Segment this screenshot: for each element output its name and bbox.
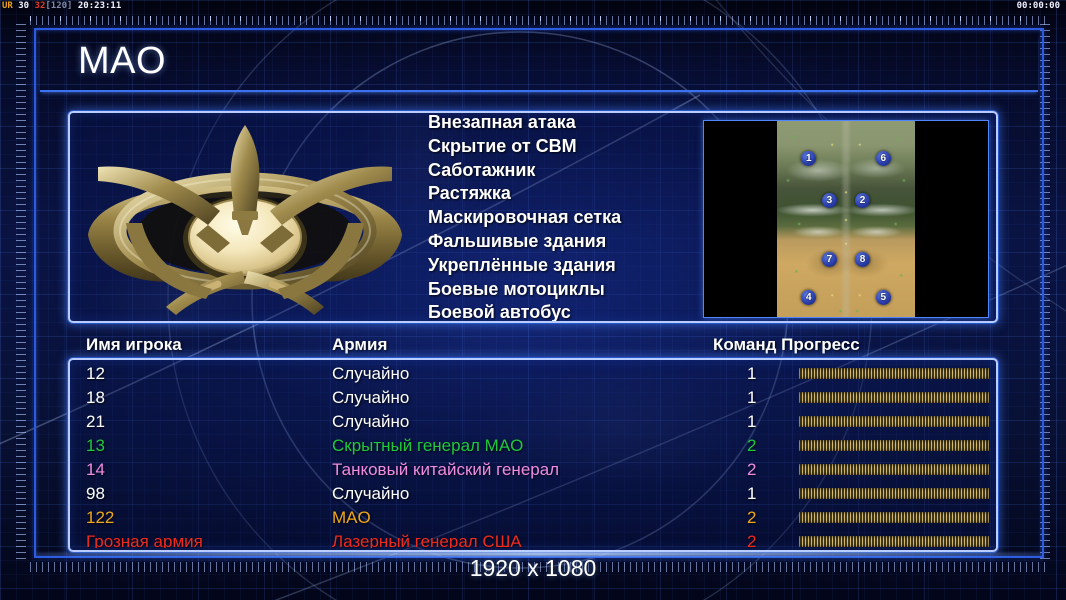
team-progress-bar <box>799 440 989 451</box>
resolution-label: 1920 x 1080 <box>0 555 1066 582</box>
ruler-right <box>1040 24 1050 560</box>
cell-player-name: 21 <box>86 410 105 434</box>
map-start-position[interactable]: 5 <box>876 290 891 305</box>
ability-item: Растяжка <box>428 182 718 206</box>
ability-item: Укреплённые здания <box>428 254 718 278</box>
cell-player-name: 14 <box>86 458 105 482</box>
cell-army: Скрытный генерал MAO <box>332 434 523 458</box>
column-header-army: Армия <box>332 335 387 355</box>
column-header-player-name: Имя игрока <box>86 335 182 355</box>
ruler-top <box>30 16 1048 25</box>
table-row[interactable]: 98Случайно1 <box>72 482 994 506</box>
cell-team-order: 1 <box>747 362 756 386</box>
team-progress-bar <box>799 464 989 475</box>
cell-player-name: Грозная армия <box>86 530 203 548</box>
faction-emblem <box>80 119 410 315</box>
cell-player-name: 12 <box>86 362 105 386</box>
game-menu-screen: UR 30 32[120] 20:23:11 00:00:00 MAO <box>0 0 1066 600</box>
cell-player-name: 98 <box>86 482 105 506</box>
cell-team-order: 2 <box>747 530 756 548</box>
cell-army: Случайно <box>332 386 409 410</box>
table-row[interactable]: 14Танковый китайский генерал2 <box>72 458 994 482</box>
ability-item: Внезапная атака <box>428 111 718 135</box>
cell-team-order: 2 <box>747 434 756 458</box>
cell-player-name: 18 <box>86 386 105 410</box>
faction-info-panel: Внезапная атакаСкрытие от СВМСаботажникР… <box>68 111 998 323</box>
cell-army: Случайно <box>332 362 409 386</box>
ability-item: Саботажник <box>428 159 718 183</box>
cell-team-order: 1 <box>747 482 756 506</box>
player-rows: 12Случайно118Случайно121Случайно113Скрыт… <box>72 362 994 548</box>
cell-army: Случайно <box>332 410 409 434</box>
table-row[interactable]: 13Скрытный генерал MAO2 <box>72 434 994 458</box>
team-progress-bar <box>799 368 989 379</box>
ruler-top-major <box>30 16 1048 21</box>
ability-item: Фальшивые здания <box>428 230 718 254</box>
map-start-position[interactable]: 7 <box>822 252 837 267</box>
ability-item: Боевые мотоциклы <box>428 278 718 302</box>
cell-army: MAO <box>332 506 371 530</box>
team-progress-bar <box>799 488 989 499</box>
team-progress-bar <box>799 536 989 547</box>
table-row[interactable]: 18Случайно1 <box>72 386 994 410</box>
map-image: 16327845 <box>777 121 915 318</box>
map-start-position[interactable]: 2 <box>855 193 870 208</box>
game-timer: 00:00:00 <box>1017 1 1060 11</box>
abilities-list: Внезапная атакаСкрытие от СВМСаботажникР… <box>428 111 718 321</box>
fps-label: UR <box>2 1 13 11</box>
map-start-position[interactable]: 4 <box>801 290 816 305</box>
team-progress-bar <box>799 416 989 427</box>
cell-player-name: 13 <box>86 434 105 458</box>
column-header-team-progress: Команд Прогресс <box>713 335 860 355</box>
map-start-position[interactable]: 6 <box>876 151 891 166</box>
cell-army: Лазерный генерал США <box>332 530 522 548</box>
gla-emblem-icon <box>80 119 410 315</box>
cell-army: Танковый китайский генерал <box>332 458 559 482</box>
fps-value: 30 <box>18 1 29 11</box>
cell-team-order: 1 <box>747 410 756 434</box>
ability-item: Маскировочная сетка <box>428 206 718 230</box>
map-preview[interactable]: 16327845 <box>703 120 989 318</box>
map-start-position[interactable]: 3 <box>822 193 837 208</box>
cell-team-order: 1 <box>747 386 756 410</box>
title-bar: MAO <box>40 34 1038 92</box>
fps-overlay: UR 30 32[120] 20:23:11 <box>2 1 121 11</box>
cell-team-order: 2 <box>747 506 756 530</box>
player-table-panel: 12Случайно118Случайно121Случайно113Скрыт… <box>68 358 998 552</box>
team-progress-bar <box>799 392 989 403</box>
ability-item: Скрытие от СВМ <box>428 135 718 159</box>
table-row[interactable]: 21Случайно1 <box>72 410 994 434</box>
table-row[interactable]: Грозная армияЛазерный генерал США2 <box>72 530 994 548</box>
page-title: MAO <box>78 40 166 83</box>
table-header-row: Имя игрока Армия Команд Прогресс <box>68 335 998 359</box>
ability-item: Боевой автобус <box>428 301 718 321</box>
table-row[interactable]: 122MAO2 <box>72 506 994 530</box>
cell-team-order: 2 <box>747 458 756 482</box>
system-clock: 20:23:11 <box>78 1 121 11</box>
cell-player-name: 122 <box>86 506 114 530</box>
ruler-left <box>16 24 26 560</box>
table-row[interactable]: 12Случайно1 <box>72 362 994 386</box>
cell-army: Случайно <box>332 482 409 506</box>
team-progress-bar <box>799 512 989 523</box>
fps-cap: [120] <box>45 1 72 11</box>
fps-value-alt: 32 <box>35 1 46 11</box>
